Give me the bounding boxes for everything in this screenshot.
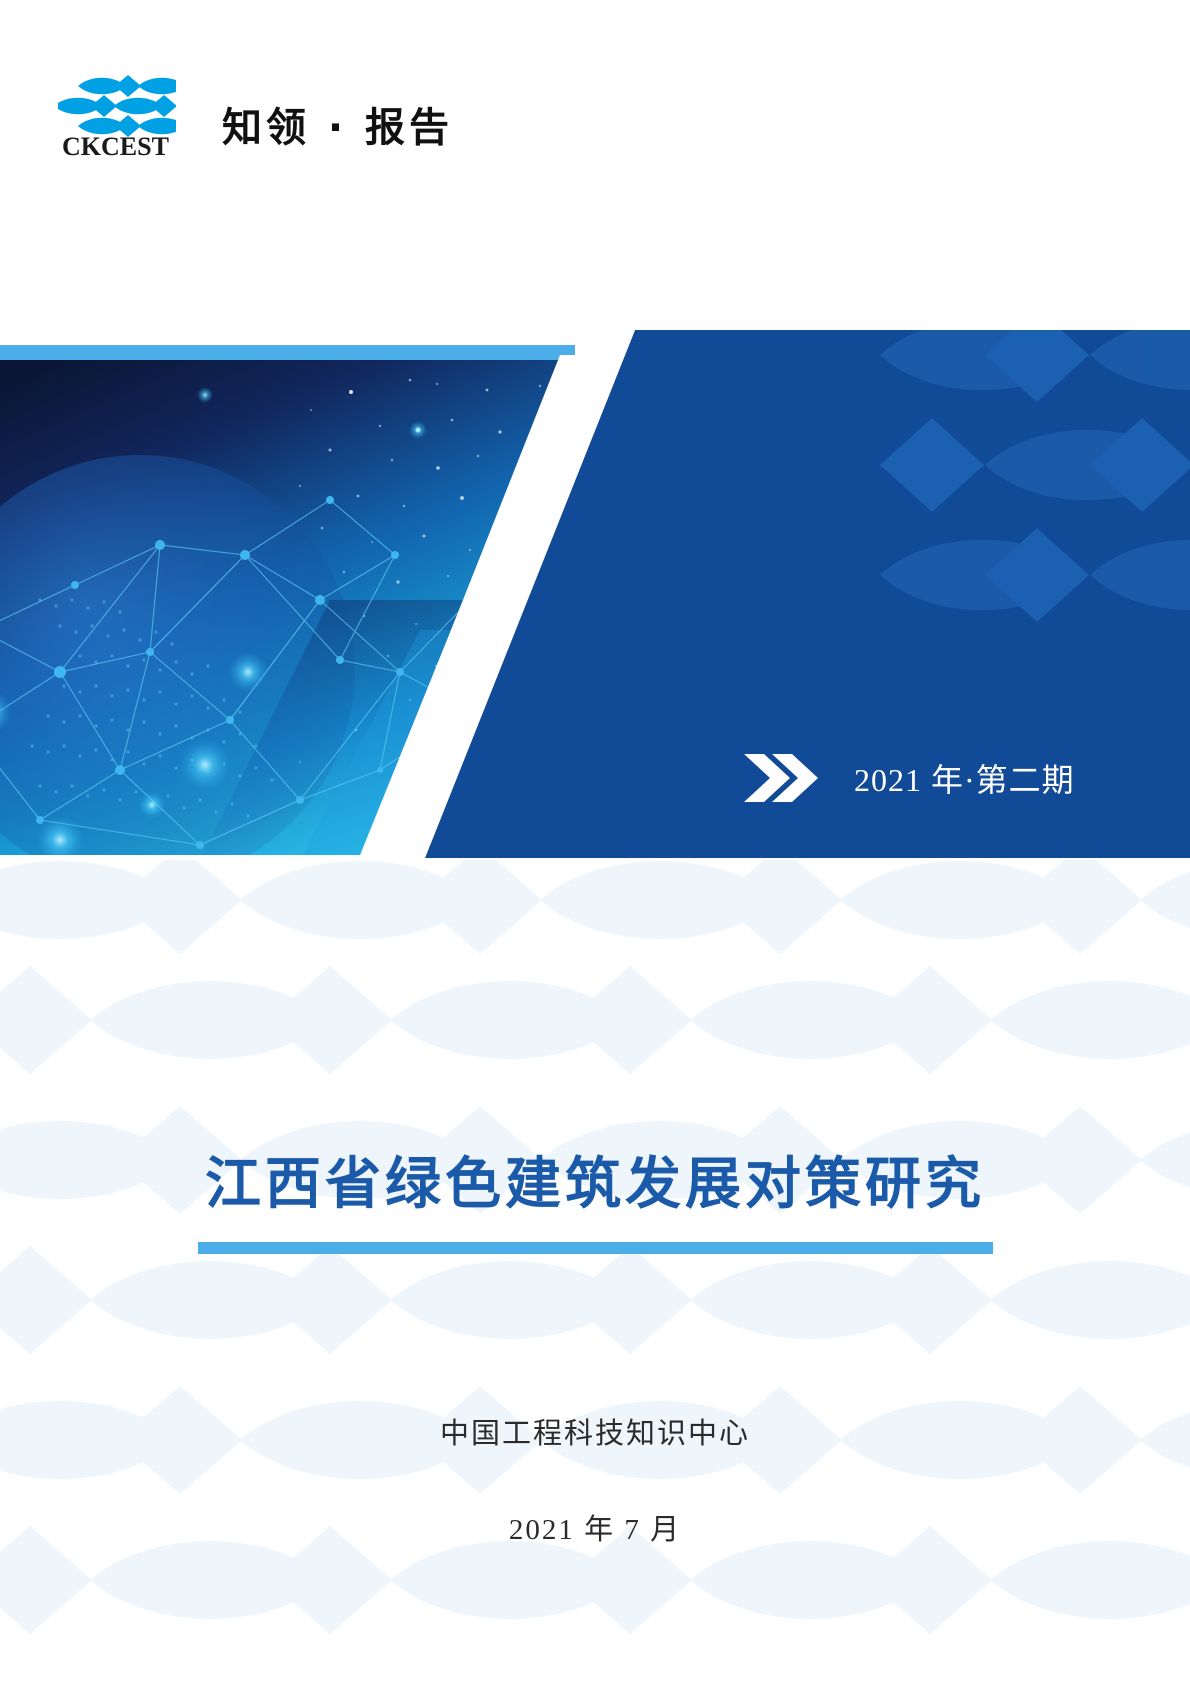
publisher-name: 中国工程科技知识中心 (0, 1410, 1190, 1452)
ckcest-lens-lattice-logo-icon: CKCEST (58, 72, 176, 167)
brand-header: CKCEST 知领 · 报告 (58, 72, 453, 167)
issue-label: 2021 年·第二期 (854, 755, 1075, 801)
page-title: 江西省绿色建筑发展对策研究 (0, 1150, 1190, 1220)
issue-badge: 2021 年·第二期 (742, 752, 1075, 804)
footer-block: 中国工程科技知识中心 2021 年 7 月 (0, 1410, 1190, 1548)
logo-wordmark: CKCEST (62, 134, 169, 160)
publication-date: 2021 年 7 月 (0, 1506, 1190, 1548)
brand-title: 知领 · 报告 (222, 95, 453, 153)
title-block: 江西省绿色建筑发展对策研究 (0, 1150, 1190, 1254)
background-watermark (0, 860, 1190, 1683)
double-chevron-right-icon (742, 752, 820, 804)
title-underline-rule (198, 1242, 993, 1254)
